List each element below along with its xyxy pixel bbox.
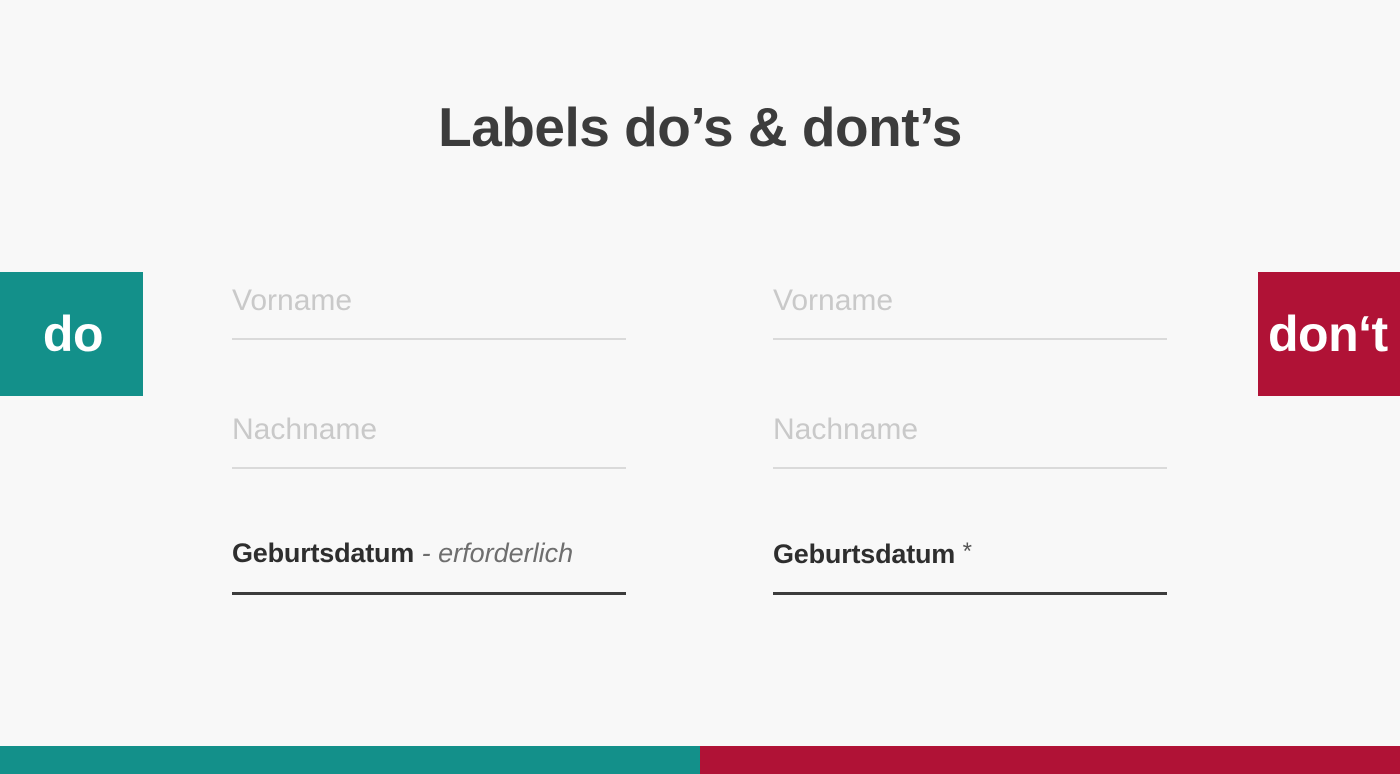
field-geburtsdatum-dont[interactable]: Geburtsdatum *	[773, 530, 1167, 659]
badge-dont-label: don‘t	[1268, 309, 1388, 359]
page-title: Labels do’s & dont’s	[0, 100, 1400, 155]
required-asterisk-icon: *	[963, 538, 972, 565]
field-vorname-dont[interactable]: Vorname	[773, 272, 1167, 401]
field-vorname-dont-placeholder: Vorname	[773, 286, 893, 316]
badge-dont: don‘t	[1258, 272, 1400, 396]
field-geburtsdatum-do-label-main: Geburtsdatum	[232, 538, 414, 568]
field-geburtsdatum-do-underline	[232, 592, 626, 595]
field-geburtsdatum-do-label: Geburtsdatum - erforderlich	[232, 540, 573, 567]
field-geburtsdatum-dont-label: Geburtsdatum *	[773, 540, 972, 568]
field-nachname-dont-underline	[773, 467, 1167, 469]
field-nachname-dont-placeholder: Nachname	[773, 415, 918, 445]
field-vorname-do-underline	[232, 338, 626, 340]
field-vorname-do[interactable]: Vorname	[232, 272, 626, 401]
bottom-accent-bar-dont	[700, 746, 1400, 774]
field-geburtsdatum-dont-underline	[773, 592, 1167, 595]
form-column-dont: Vorname Nachname Geburtsdatum *	[773, 272, 1167, 659]
field-vorname-do-placeholder: Vorname	[232, 286, 352, 316]
field-nachname-do[interactable]: Nachname	[232, 401, 626, 530]
form-column-do: Vorname Nachname Geburtsdatum - erforder…	[232, 272, 626, 659]
badge-do-label: do	[43, 309, 103, 359]
field-nachname-do-underline	[232, 467, 626, 469]
field-nachname-dont[interactable]: Nachname	[773, 401, 1167, 530]
bottom-accent-bar-do	[0, 746, 700, 774]
bottom-accent-bar	[0, 746, 1400, 774]
slide-canvas: Labels do’s & dont’s do don‘t Vorname Na…	[0, 0, 1400, 774]
field-nachname-do-placeholder: Nachname	[232, 415, 377, 445]
field-geburtsdatum-do-label-hint: - erforderlich	[414, 538, 573, 568]
field-geburtsdatum-dont-label-main: Geburtsdatum	[773, 539, 955, 569]
field-geburtsdatum-do[interactable]: Geburtsdatum - erforderlich	[232, 530, 626, 659]
badge-do: do	[0, 272, 143, 396]
field-vorname-dont-underline	[773, 338, 1167, 340]
